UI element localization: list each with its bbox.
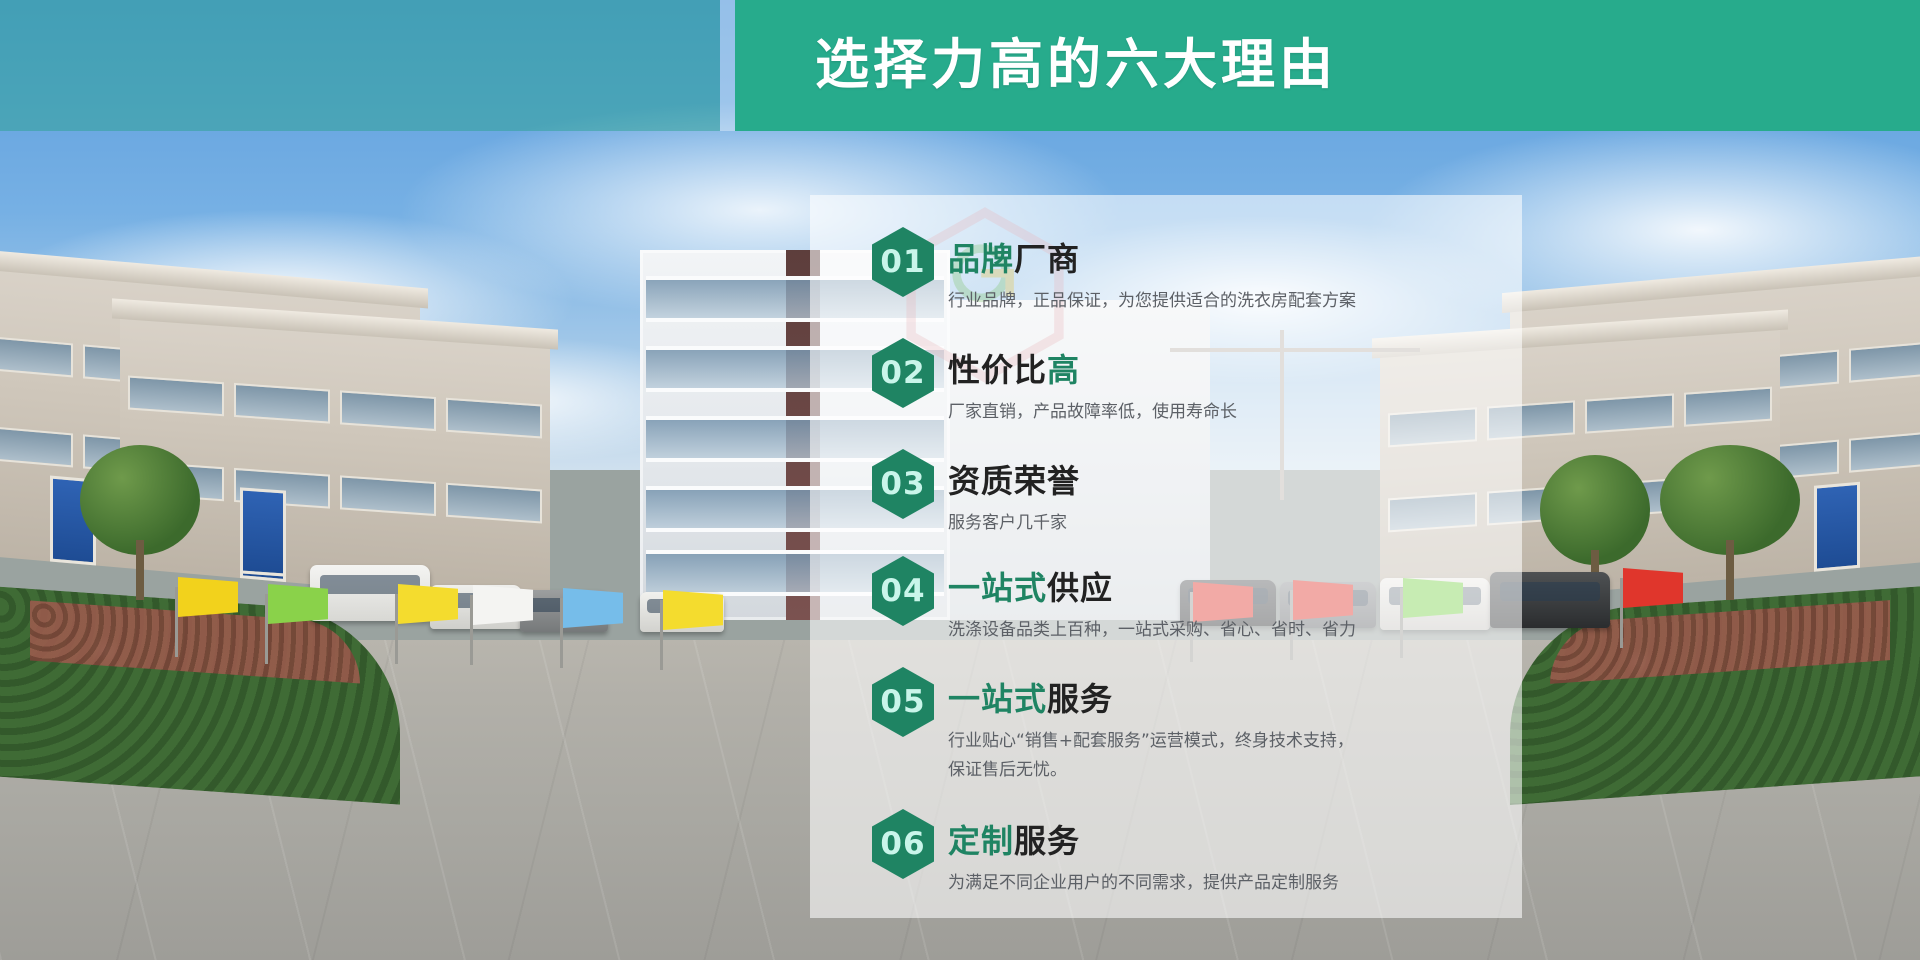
reason-title-dark-05: 服务 <box>1047 680 1113 718</box>
reason-title-green-06: 定制 <box>948 822 1014 860</box>
flag-yellow-center <box>660 578 718 670</box>
reason-number-badge-04: 04 <box>872 556 934 626</box>
reason-item-06[interactable]: 06 定制服务 为满足不同企业用户的不同需求，提供产品定制服务 <box>810 809 1522 898</box>
page-title: 选择力高的六大理由 <box>815 22 1337 108</box>
reason-item-02[interactable]: 02 性价比高 厂家直销，产品故障率低，使用寿命长 <box>810 338 1522 427</box>
reason-desc-06: 为满足不同企业用户的不同需求，提供产品定制服务 <box>948 863 1522 898</box>
reason-title-02: 性价比高 <box>948 338 1522 392</box>
reason-desc-03: 服务客户几千家 <box>948 503 1522 538</box>
reason-number-badge-02: 02 <box>872 338 934 408</box>
reason-desc-02: 厂家直销，产品故障率低，使用寿命长 <box>948 392 1522 427</box>
reason-title-dark-01: 厂商 <box>1014 240 1080 278</box>
header-left-overlay <box>0 0 720 131</box>
flag-yellow-left <box>175 545 245 657</box>
reason-desc-04: 洗涤设备品类上百种，一站式采购、省心、省时、省力 <box>948 610 1522 645</box>
flag-red-right-3 <box>1620 530 1696 648</box>
reason-title-dark-03: 资质荣誉 <box>948 462 1080 500</box>
reason-item-01[interactable]: 01 品牌厂商 行业品牌，正品保证，为您提供适合的洗衣房配套方案 <box>810 227 1522 316</box>
header-divider <box>720 0 735 131</box>
flag-yellow-left-2 <box>395 560 461 664</box>
reason-item-03[interactable]: 03 资质荣誉 服务客户几千家 <box>810 449 1522 538</box>
reason-title-green-01: 品牌 <box>948 240 1014 278</box>
reason-desc-05: 行业贴心“销售+配套服务”运营模式，终身技术支持， 保证售后无忧。 <box>948 721 1522 785</box>
flag-blue-left <box>560 572 620 668</box>
reason-number-badge-06: 06 <box>872 809 934 879</box>
reason-number-badge-01: 01 <box>872 227 934 297</box>
reason-title-green-05: 一站式 <box>948 680 1047 718</box>
reason-item-05[interactable]: 05 一站式服务 行业贴心“销售+配套服务”运营模式，终身技术支持， 保证售后无… <box>810 667 1522 785</box>
reason-title-05: 一站式服务 <box>948 667 1522 721</box>
reason-title-01: 品牌厂商 <box>948 227 1522 281</box>
reason-title-green-02: 高 <box>1047 351 1080 389</box>
flag-white-left <box>470 565 532 665</box>
reason-title-dark-06: 服务 <box>1014 822 1080 860</box>
reason-title-06: 定制服务 <box>948 809 1522 863</box>
reason-number-badge-03: 03 <box>872 449 934 519</box>
reasons-panel: 01 品牌厂商 行业品牌，正品保证，为您提供适合的洗衣房配套方案 02 性价比高… <box>810 195 1522 918</box>
reason-title-green-04: 一站式 <box>948 569 1047 607</box>
reason-title-04: 一站式供应 <box>948 556 1522 610</box>
page-header: 选择力高的六大理由 <box>0 0 1920 131</box>
reason-title-dark-02: 性价比 <box>948 351 1047 389</box>
reason-title-dark-04: 供应 <box>1047 569 1113 607</box>
flag-green-left <box>265 552 335 664</box>
reason-desc-01: 行业品牌，正品保证，为您提供适合的洗衣房配套方案 <box>948 281 1522 316</box>
reason-item-04[interactable]: 04 一站式供应 洗涤设备品类上百种，一站式采购、省心、省时、省力 <box>810 556 1522 645</box>
reason-number-badge-05: 05 <box>872 667 934 737</box>
reason-title-03: 资质荣誉 <box>948 449 1522 503</box>
